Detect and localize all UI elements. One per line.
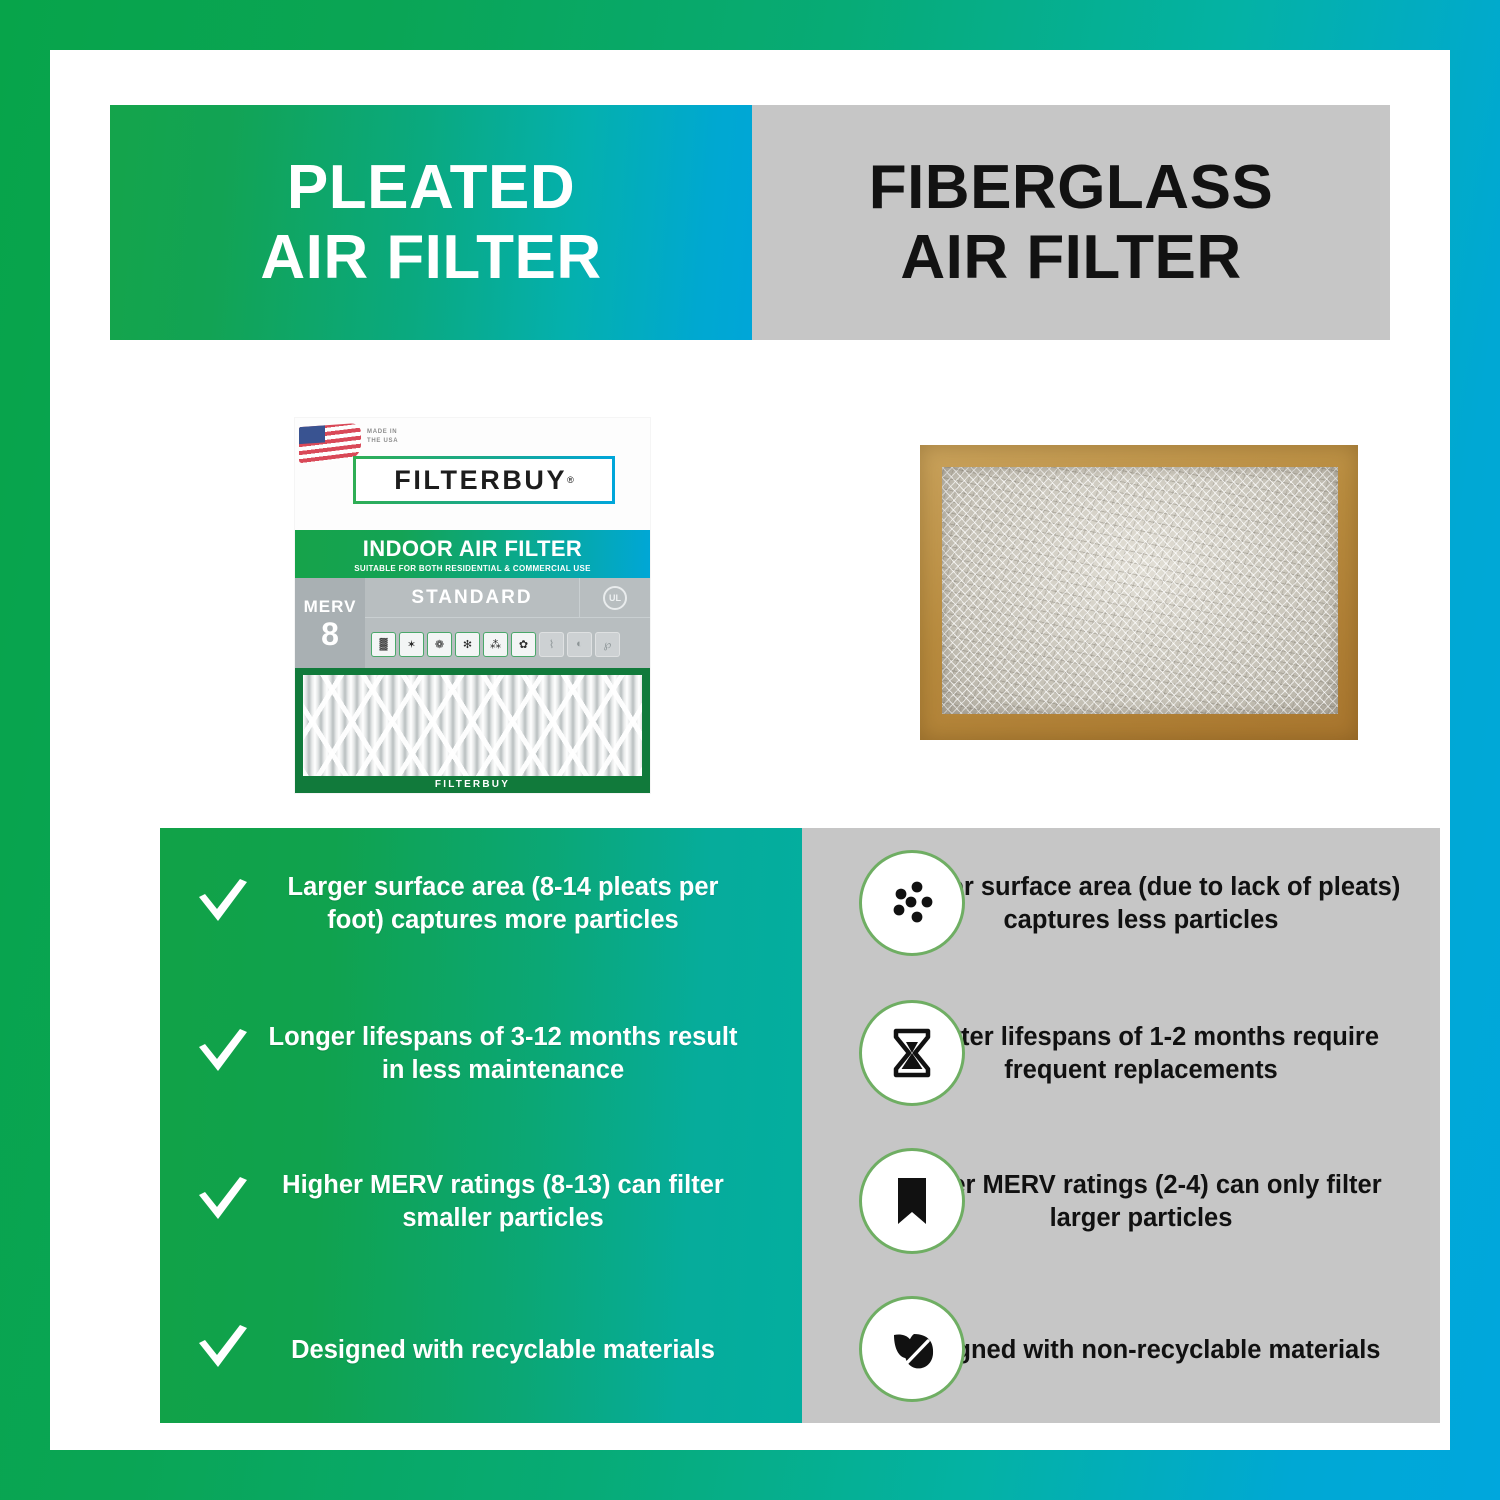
particles-icon <box>859 850 965 956</box>
header-pleated-panel: PLEATED AIR FILTER <box>110 105 752 340</box>
box-footer-brand: FILTERBUY <box>435 779 510 790</box>
dust-debris-icon: ▓ <box>371 632 396 657</box>
white-card: PLEATED AIR FILTER FIBERGLASS AIR FILTER… <box>50 50 1450 1450</box>
comparison-left-cell: Higher MERV ratings (8-13) can filter sm… <box>160 1128 802 1276</box>
certification-cell: UL <box>580 578 650 618</box>
ul-certification-icon: UL <box>603 586 627 610</box>
pleated-filter-box-image: MADE IN THE USA FILTERBUY ® INDOOR AIR F… <box>295 418 650 793</box>
box-band-title: INDOOR AIR FILTER <box>363 536 582 562</box>
mold-icon: ✻ <box>455 632 480 657</box>
header-band: PLEATED AIR FILTER FIBERGLASS AIR FILTER <box>110 105 1390 340</box>
header-pleated-title: PLEATED AIR FILTER <box>260 153 601 292</box>
comparison-left-cell: Designed with recyclable materials <box>160 1276 802 1424</box>
product-image-row: MADE IN THE USA FILTERBUY ® INDOOR AIR F… <box>110 340 1390 780</box>
fiberglass-mesh-texture <box>942 467 1338 714</box>
usa-flag-icon <box>299 423 361 463</box>
trademark-symbol: ® <box>567 475 574 485</box>
made-in-usa-label: MADE IN THE USA <box>367 428 398 446</box>
comparison-rows: Larger surface area (8-14 pleats per foo… <box>160 828 1440 1423</box>
comparison-row: Larger surface area (8-14 pleats per foo… <box>160 830 1440 978</box>
pleat-texture <box>303 675 642 776</box>
leaf-icon <box>859 1296 965 1402</box>
grade-label: STANDARD <box>411 587 532 609</box>
virus-icon: ℘ <box>595 632 620 657</box>
comparison-row: Designed with recyclable materials Desig… <box>160 1276 1440 1424</box>
pollen-icon: ❁ <box>427 632 452 657</box>
brand-logo-box: FILTERBUY ® <box>353 456 615 504</box>
lint-fibers-icon: ✶ <box>399 632 424 657</box>
comparison-left-text: Designed with recyclable materials <box>260 1334 746 1367</box>
fiberglass-filter-image <box>920 445 1358 740</box>
bookmark-icon <box>859 1148 965 1254</box>
brand-name: FILTERBUY <box>394 465 567 496</box>
check-icon <box>192 1023 254 1085</box>
comparison-row: Longer lifespans of 3-12 months result i… <box>160 980 1440 1128</box>
comparison-section: Larger surface area (8-14 pleats per foo… <box>160 828 1440 1423</box>
merv-label: MERV <box>304 597 357 617</box>
box-top-section: MADE IN THE USA FILTERBUY ® <box>295 418 650 530</box>
smoke-icon: ⌇ <box>539 632 564 657</box>
comparison-left-text: Larger surface area (8-14 pleats per foo… <box>260 871 746 936</box>
header-fiberglass-panel: FIBERGLASS AIR FILTER <box>752 105 1390 340</box>
bacteria-icon: ◐ <box>567 632 592 657</box>
check-icon <box>192 1171 254 1233</box>
check-icon <box>192 1319 254 1381</box>
comparison-left-cell: Longer lifespans of 3-12 months result i… <box>160 980 802 1128</box>
box-band-subtitle: SUITABLE FOR BOTH RESIDENTIAL & COMMERCI… <box>354 564 590 573</box>
merv-value: 8 <box>321 618 339 650</box>
header-fiberglass-title: FIBERGLASS AIR FILTER <box>869 153 1274 292</box>
comparison-row: Higher MERV ratings (8-13) can filter sm… <box>160 1128 1440 1276</box>
merv-rating-cell: MERV 8 <box>295 578 365 668</box>
grade-cell: STANDARD <box>365 578 580 618</box>
hourglass-icon <box>859 1000 965 1106</box>
pet-dander-icon: ✿ <box>511 632 536 657</box>
comparison-left-text: Longer lifespans of 3-12 months result i… <box>260 1021 746 1086</box>
box-color-band: INDOOR AIR FILTER SUITABLE FOR BOTH RESI… <box>295 530 650 578</box>
feature-icon-strip: ▓ ✶ ❁ ✻ ⁂ ✿ ⌇ ◐ ℘ <box>367 620 650 668</box>
dust-mites-icon: ⁂ <box>483 632 508 657</box>
outer-gradient-frame: PLEATED AIR FILTER FIBERGLASS AIR FILTER… <box>0 0 1500 1500</box>
comparison-left-text: Higher MERV ratings (8-13) can filter sm… <box>260 1169 746 1234</box>
box-footer-brand-bar: FILTERBUY <box>295 776 650 793</box>
check-icon <box>192 873 254 935</box>
comparison-left-cell: Larger surface area (8-14 pleats per foo… <box>160 830 802 978</box>
pleated-media-window: FILTERBUY <box>295 668 650 793</box>
box-spec-section: MERV 8 STANDARD UL ▓ ✶ ❁ ✻ ⁂ <box>295 578 650 668</box>
